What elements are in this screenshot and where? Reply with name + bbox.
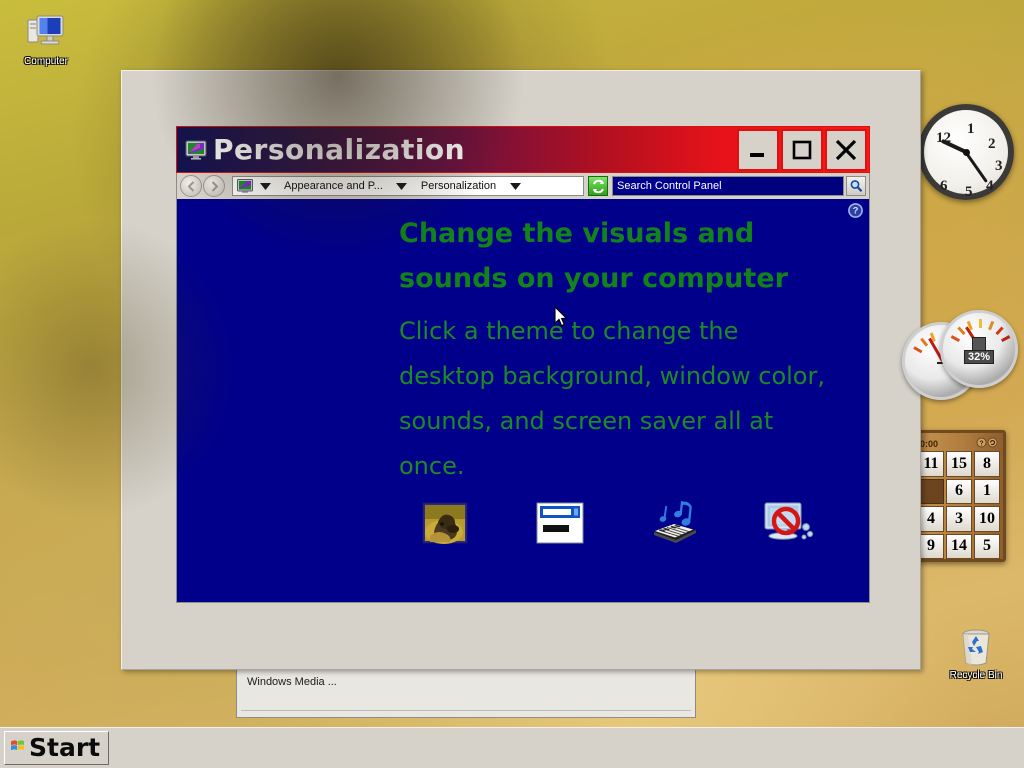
chevron-down-icon[interactable] <box>256 183 274 190</box>
puzzle-tile[interactable]: 4 <box>918 506 944 532</box>
maximize-button[interactable] <box>781 129 823 171</box>
clock-gadget[interactable]: 12 1 2 3 4 5 6 <box>918 104 1014 200</box>
breadcrumb[interactable]: Appearance and P... Personalization <box>232 176 584 196</box>
cpu-meter-gadget[interactable]: 32% <box>940 310 1018 388</box>
background-window[interactable]: Windows Media ... <box>236 664 696 718</box>
page-title: Change the visuals and sounds on your co… <box>399 211 829 301</box>
recycle-bin-icon <box>938 622 1014 668</box>
clock-minute-hand <box>965 151 988 182</box>
taskbar[interactable]: Start <box>0 727 1024 768</box>
puzzle-tile[interactable]: 10 <box>974 506 1000 532</box>
cpu-meter-value: 32% <box>964 350 994 364</box>
puzzle-tile[interactable]: 9 <box>918 534 944 560</box>
picture-puzzle-gadget[interactable]: 0:00 ? 11 15 8 6 1 4 3 <box>912 430 1006 562</box>
clock-number: 2 <box>988 136 996 153</box>
puzzle-timer: 0:00 <box>920 439 938 449</box>
window-control-buttons <box>737 129 867 171</box>
windows-flag-icon <box>9 737 26 759</box>
puzzle-tile-blank[interactable] <box>918 479 944 505</box>
window-title: Personalization <box>213 133 465 166</box>
desktop-icon-recycle-bin[interactable]: Recycle Bin <box>938 622 1014 682</box>
meter-tick <box>920 338 928 347</box>
clock-number: 5 <box>965 184 973 201</box>
search-icon[interactable] <box>846 176 866 196</box>
puzzle-tile[interactable]: 5 <box>974 534 1000 560</box>
personalization-window: Personalization <box>176 126 870 621</box>
breadcrumb-appearance[interactable]: Appearance and P... <box>274 180 393 192</box>
divider <box>241 710 691 711</box>
refresh-icon[interactable] <box>588 176 608 196</box>
background-window-row-label: Windows Media ... <box>247 676 337 688</box>
puzzle-tile[interactable]: 15 <box>946 451 972 477</box>
photo-thumbnail-icon <box>422 502 468 549</box>
puzzle-controls[interactable]: ? <box>976 437 998 450</box>
personalization-icon <box>185 140 207 160</box>
cpu-chip-icon <box>972 337 986 351</box>
page-description: Click a theme to change the desktop back… <box>399 309 839 489</box>
clock-face: 12 1 2 3 4 5 6 <box>918 104 1014 200</box>
forward-button[interactable] <box>203 175 225 197</box>
desktop[interactable]: Computer Recycle Bin 12 1 2 3 4 5 6 <box>0 0 1024 768</box>
meter-tick <box>1001 335 1010 342</box>
close-button[interactable] <box>825 129 867 171</box>
window-icon <box>536 502 584 549</box>
meter-tick <box>979 319 982 328</box>
clock-number: 6 <box>940 178 948 195</box>
clock-number: 1 <box>967 121 975 138</box>
breadcrumb-personalization[interactable]: Personalization <box>411 180 506 192</box>
puzzle-tile[interactable]: 3 <box>946 506 972 532</box>
music-keyboard-icon <box>648 500 700 551</box>
minimize-button[interactable] <box>737 129 779 171</box>
svg-text:?: ? <box>853 206 859 217</box>
help-icon[interactable]: ? <box>848 203 863 223</box>
puzzle-tile[interactable]: 6 <box>946 479 972 505</box>
start-button-label: Start <box>29 735 100 761</box>
desktop-icon-computer[interactable]: Computer <box>8 8 84 68</box>
desktop-background-thumbnail[interactable] <box>417 499 473 551</box>
window-color-thumbnail[interactable] <box>532 499 588 551</box>
screen-saver-thumbnail[interactable] <box>761 499 817 551</box>
control-panel-icon <box>237 179 253 194</box>
puzzle-tile[interactable]: 8 <box>974 451 1000 477</box>
svg-text:?: ? <box>979 441 983 448</box>
cpu-meter-dial: 32% <box>940 310 1018 388</box>
desktop-icon-label: Computer <box>8 56 84 68</box>
puzzle-tile[interactable]: 1 <box>974 479 1000 505</box>
address-bar[interactable]: Appearance and P... Personalization <box>176 173 870 199</box>
start-button[interactable]: Start <box>4 731 109 765</box>
clock-center-pin <box>963 149 970 156</box>
puzzle-tile[interactable]: 14 <box>946 534 972 560</box>
back-button[interactable] <box>180 175 202 197</box>
meter-tick <box>988 321 994 330</box>
chevron-down-icon[interactable] <box>393 183 411 190</box>
window-title-bar[interactable]: Personalization <box>176 126 870 173</box>
meter-tick <box>913 346 922 353</box>
personalization-panel: Personalization <box>121 70 921 670</box>
sounds-thumbnail[interactable] <box>646 499 702 551</box>
search-input[interactable]: Search Control Panel <box>612 176 844 196</box>
puzzle-header: 0:00 ? <box>918 436 1000 451</box>
puzzle-tile[interactable]: 11 <box>918 451 944 477</box>
meter-tick <box>951 335 960 342</box>
desktop-icon-label: Recycle Bin <box>938 670 1014 682</box>
chevron-down-icon[interactable] <box>506 183 524 190</box>
puzzle-frame: 0:00 ? 11 15 8 6 1 4 3 <box>912 430 1006 562</box>
clock-number: 3 <box>995 158 1003 175</box>
monitor-blocked-icon <box>762 500 816 551</box>
window-content: ? Change the visuals and sounds on your … <box>176 199 870 603</box>
puzzle-grid[interactable]: 11 15 8 6 1 4 3 10 9 14 5 <box>918 451 1000 559</box>
search-input-value[interactable]: Search Control Panel <box>615 179 724 193</box>
meter-tick <box>995 326 1003 335</box>
computer-icon <box>8 8 84 54</box>
theme-item-row <box>417 499 817 551</box>
